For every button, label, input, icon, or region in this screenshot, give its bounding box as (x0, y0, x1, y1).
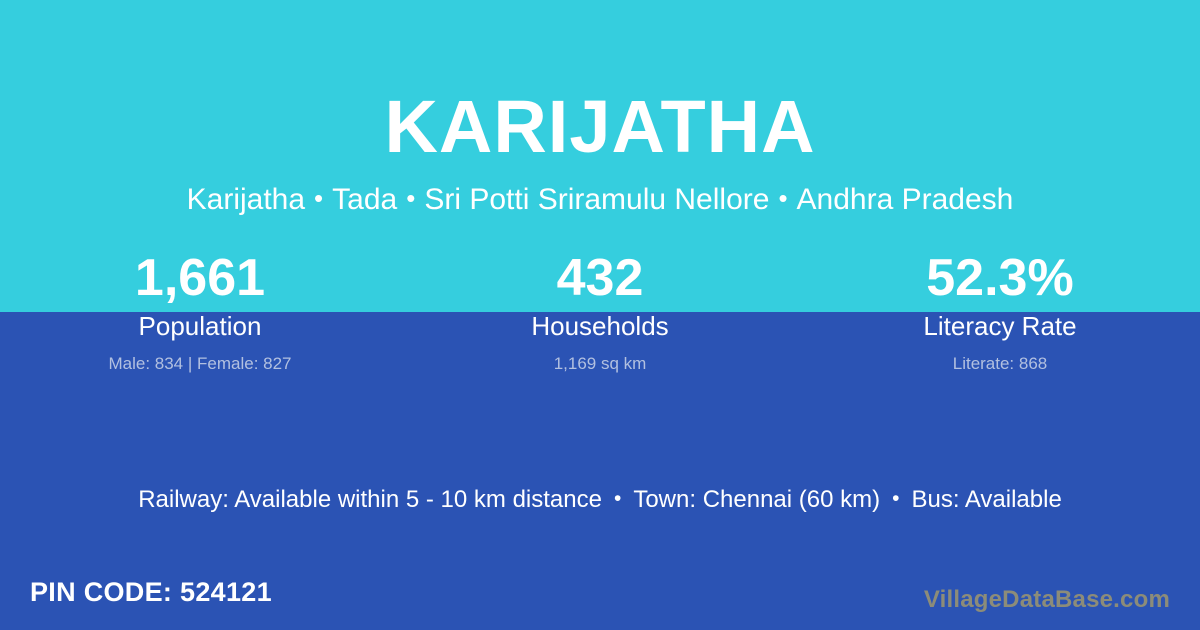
amenity-separator-icon: • (602, 487, 633, 510)
stat-population: 1,661 Population Male: 834 | Female: 827 (0, 248, 400, 375)
stat-sublabel: Male: 834 | Female: 827 (0, 353, 400, 375)
breadcrumb-item-village: Karijatha (187, 183, 305, 216)
stat-literacy-rate: 52.3% Literacy Rate Literate: 868 (800, 248, 1200, 375)
pin-code: PIN CODE: 524121 (30, 575, 272, 609)
page-title: KARIJATHA (0, 84, 1200, 170)
site-brand-watermark: VillageDataBase.com (924, 585, 1170, 615)
breadcrumb-item-state: Andhra Pradesh (797, 183, 1014, 216)
breadcrumb-separator-icon: • (769, 183, 796, 213)
stat-households: 432 Households 1,169 sq km (400, 248, 800, 375)
village-info-card: KARIJATHA Karijatha•Tada•Sri Potti Srira… (0, 0, 1200, 630)
amenity-railway: Railway: Available within 5 - 10 km dist… (138, 486, 602, 513)
stats-row: 1,661 Population Male: 834 | Female: 827… (0, 248, 1200, 375)
stat-sublabel: 1,169 sq km (400, 353, 800, 375)
amenity-separator-icon: • (880, 487, 911, 510)
stat-label: Households (400, 310, 800, 342)
stat-value: 1,661 (0, 248, 400, 308)
breadcrumb-item-block: Tada (332, 183, 397, 216)
amenities-line: Railway: Available within 5 - 10 km dist… (0, 485, 1200, 516)
stat-label: Literacy Rate (800, 310, 1200, 342)
stat-value: 432 (400, 248, 800, 308)
stat-sublabel: Literate: 868 (800, 353, 1200, 375)
breadcrumb-separator-icon: • (397, 183, 424, 213)
breadcrumb-item-district: Sri Potti Sriramulu Nellore (424, 183, 769, 216)
breadcrumb: Karijatha•Tada•Sri Potti Sriramulu Nello… (0, 183, 1200, 217)
stat-label: Population (0, 310, 400, 342)
breadcrumb-separator-icon: • (305, 183, 332, 213)
amenity-town: Town: Chennai (60 km) (633, 486, 880, 513)
amenity-bus: Bus: Available (911, 486, 1061, 513)
stat-value: 52.3% (800, 248, 1200, 308)
